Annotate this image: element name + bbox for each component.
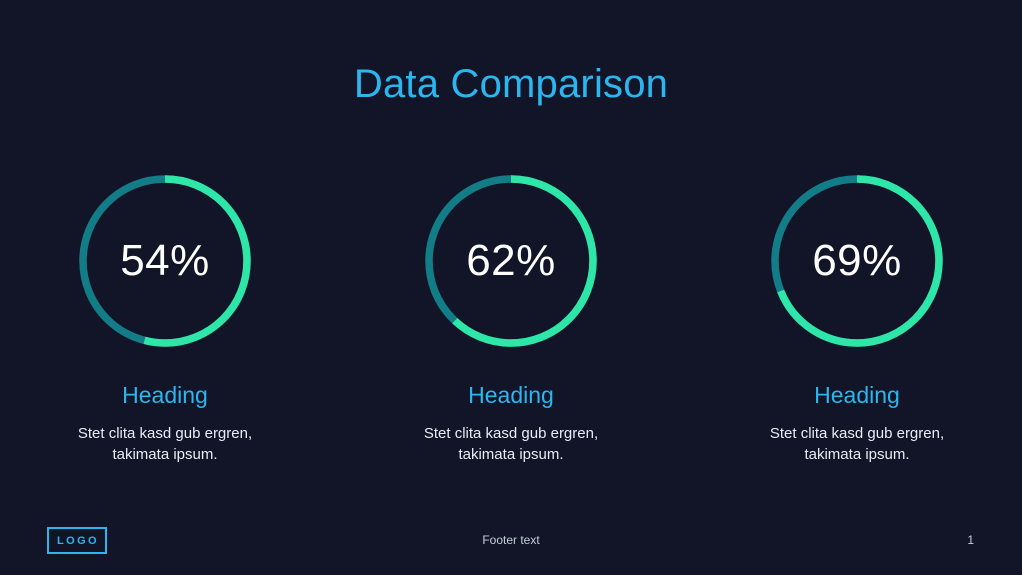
comparison-columns: 54% Heading Stet clita kasd gub ergren, … — [0, 168, 1022, 466]
footer-text: Footer text — [0, 533, 1022, 547]
comparison-column: 62% Heading Stet clita kasd gub ergren, … — [393, 168, 629, 466]
column-body-text: Stet clita kasd gub ergren, takimata ips… — [58, 423, 273, 467]
page-title: Data Comparison — [0, 62, 1022, 106]
donut-chart: 69% — [764, 168, 950, 354]
column-heading: Heading — [122, 382, 208, 410]
donut-percent-label: 69% — [764, 168, 950, 354]
column-heading: Heading — [468, 382, 554, 410]
comparison-column: 54% Heading Stet clita kasd gub ergren, … — [47, 168, 283, 466]
comparison-column: 69% Heading Stet clita kasd gub ergren, … — [739, 168, 975, 466]
donut-chart: 62% — [418, 168, 604, 354]
column-heading: Heading — [814, 382, 900, 410]
slide: Data Comparison 54% Heading Stet clita k… — [0, 0, 1022, 575]
page-number: 1 — [967, 533, 974, 547]
column-body-text: Stet clita kasd gub ergren, takimata ips… — [750, 423, 965, 467]
donut-chart: 54% — [72, 168, 258, 354]
donut-percent-label: 62% — [418, 168, 604, 354]
donut-percent-label: 54% — [72, 168, 258, 354]
column-body-text: Stet clita kasd gub ergren, takimata ips… — [404, 423, 619, 467]
